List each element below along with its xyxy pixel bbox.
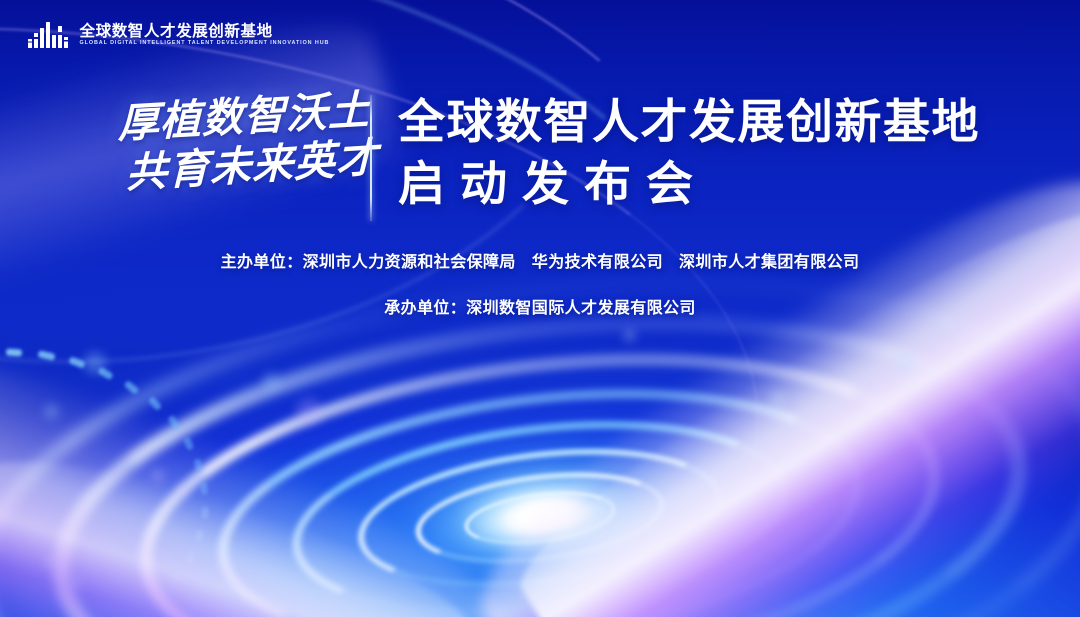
bar-chart-mark-icon (28, 22, 68, 48)
brand-mark-bar-5 (52, 35, 56, 48)
organizer-block: 主办单位：深圳市人力资源和社会保障局华为技术有限公司深圳市人才集团有限公司 承办… (0, 248, 1080, 318)
host-organizations: 主办单位：深圳市人力资源和社会保障局华为技术有限公司深圳市人才集团有限公司 (0, 248, 1080, 272)
brand-text: 全球数智人才发展创新基地 GLOBAL DIGITAL INTELLIGENT … (80, 24, 330, 47)
page-title: 全球数智人才发展创新基地 启动发布会 (398, 98, 980, 209)
brand-mark-bar-4 (46, 22, 50, 48)
brand-mark-bar-3 (40, 28, 44, 48)
coorganizer-organizations: 承办单位：深圳数智国际人才发展有限公司 (0, 294, 1080, 318)
headline-line-1: 全球数智人才发展创新基地 (398, 98, 980, 147)
headline-line-2: 启动发布会 (398, 160, 980, 209)
brand-name-en: GLOBAL DIGITAL INTELLIGENT TALENT DEVELO… (80, 41, 330, 46)
event-backdrop-stage: 全球数智人才发展创新基地 GLOBAL DIGITAL INTELLIGENT … (0, 0, 1080, 617)
brand-mark-bar-6 (58, 26, 62, 48)
brand-lockup: 全球数智人才发展创新基地 GLOBAL DIGITAL INTELLIGENT … (28, 22, 329, 48)
brand-mark-bar-2 (34, 33, 38, 48)
vertical-divider (370, 95, 372, 221)
calligraphy-line-2: 共育未来英才 (126, 138, 358, 196)
brand-mark-bar-1 (28, 39, 32, 48)
brand-mark-bar-7 (64, 37, 68, 48)
content-layer: 全球数智人才发展创新基地 GLOBAL DIGITAL INTELLIGENT … (0, 0, 1080, 617)
brand-name-cn: 全球数智人才发展创新基地 (80, 24, 330, 40)
calligraphy-slogan: 厚植数智沃土 共育未来英才 (118, 96, 358, 188)
